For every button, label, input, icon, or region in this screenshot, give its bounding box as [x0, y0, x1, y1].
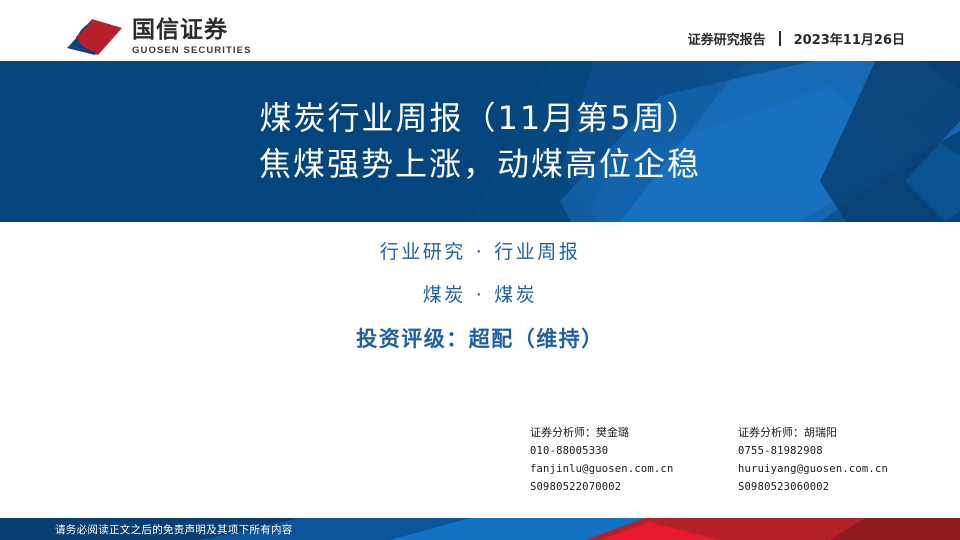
title-banner: 煤炭行业周报（11月第5周） 焦煤强势上涨，动煤高位企稳 [0, 61, 960, 222]
category-separator-dot: · [476, 243, 485, 262]
analyst-name: 证券分析师：胡瑞阳 [738, 424, 946, 442]
page-footer: 请务必阅读正文之后的免责声明及其项下所有内容 [0, 518, 960, 540]
investment-rating-line: 投资评级：超配（维持） [0, 329, 960, 350]
guosen-diamond-logo-icon [62, 17, 124, 57]
analyst-name: 证券分析师：樊金璐 [530, 424, 738, 442]
logo-wordmark: 国信证券 GUOSEN SECURITIES [132, 19, 252, 56]
analyst-phone: 0755-81982908 [738, 442, 946, 460]
logo-chinese-name: 国信证券 [132, 19, 252, 42]
analyst-entry: 证券分析师：胡瑞阳 0755-81982908 huruiyang@guosen… [738, 424, 946, 496]
footer-disclaimer-note: 请务必阅读正文之后的免责声明及其项下所有内容 [0, 522, 293, 537]
logo-english-name: GUOSEN SECURITIES [132, 46, 252, 56]
analyst-phone: 010-88005330 [530, 442, 738, 460]
analyst-entry: 证券分析师：樊金璐 010-88005330 fanjinlu@guosen.c… [530, 424, 738, 496]
analyst-license-number: S0980523060002 [738, 478, 946, 496]
industry-category-line: 煤炭·煤炭 [0, 286, 960, 305]
analyst-contact-block: 证券分析师：樊金璐 010-88005330 fanjinlu@guosen.c… [530, 424, 950, 496]
industry-category-right: 煤炭 [494, 284, 537, 306]
report-date: 2023年11月26日 [794, 29, 905, 48]
research-category-left: 行业研究 [380, 241, 466, 263]
report-type-label: 证券研究报告 [688, 29, 766, 48]
page-header: 国信证券 GUOSEN SECURITIES 证券研究报告 2023年11月26… [0, 0, 960, 61]
report-classification-block: 行业研究·行业周报 煤炭·煤炭 投资评级：超配（维持） [0, 243, 960, 350]
company-logo: 国信证券 GUOSEN SECURITIES [62, 17, 252, 57]
research-category-right: 行业周报 [494, 241, 580, 263]
industry-category-left: 煤炭 [423, 284, 466, 306]
footer-text-row: 请务必阅读正文之后的免责声明及其项下所有内容 [0, 518, 960, 540]
header-vertical-divider [779, 31, 781, 46]
industry-separator-dot: · [476, 286, 485, 305]
analyst-email: huruiyang@guosen.com.cn [738, 460, 946, 478]
banner-title-line-2: 焦煤强势上涨，动煤高位企稳 [259, 142, 701, 187]
header-meta: 证券研究报告 2023年11月26日 [688, 29, 905, 48]
analyst-license-number: S0980522070002 [530, 478, 738, 496]
banner-title-block: 煤炭行业周报（11月第5周） 焦煤强势上涨，动煤高位企稳 [0, 61, 960, 222]
research-category-line: 行业研究·行业周报 [0, 243, 960, 262]
banner-title-line-1: 煤炭行业周报（11月第5周） [259, 96, 700, 141]
analyst-email: fanjinlu@guosen.com.cn [530, 460, 738, 478]
